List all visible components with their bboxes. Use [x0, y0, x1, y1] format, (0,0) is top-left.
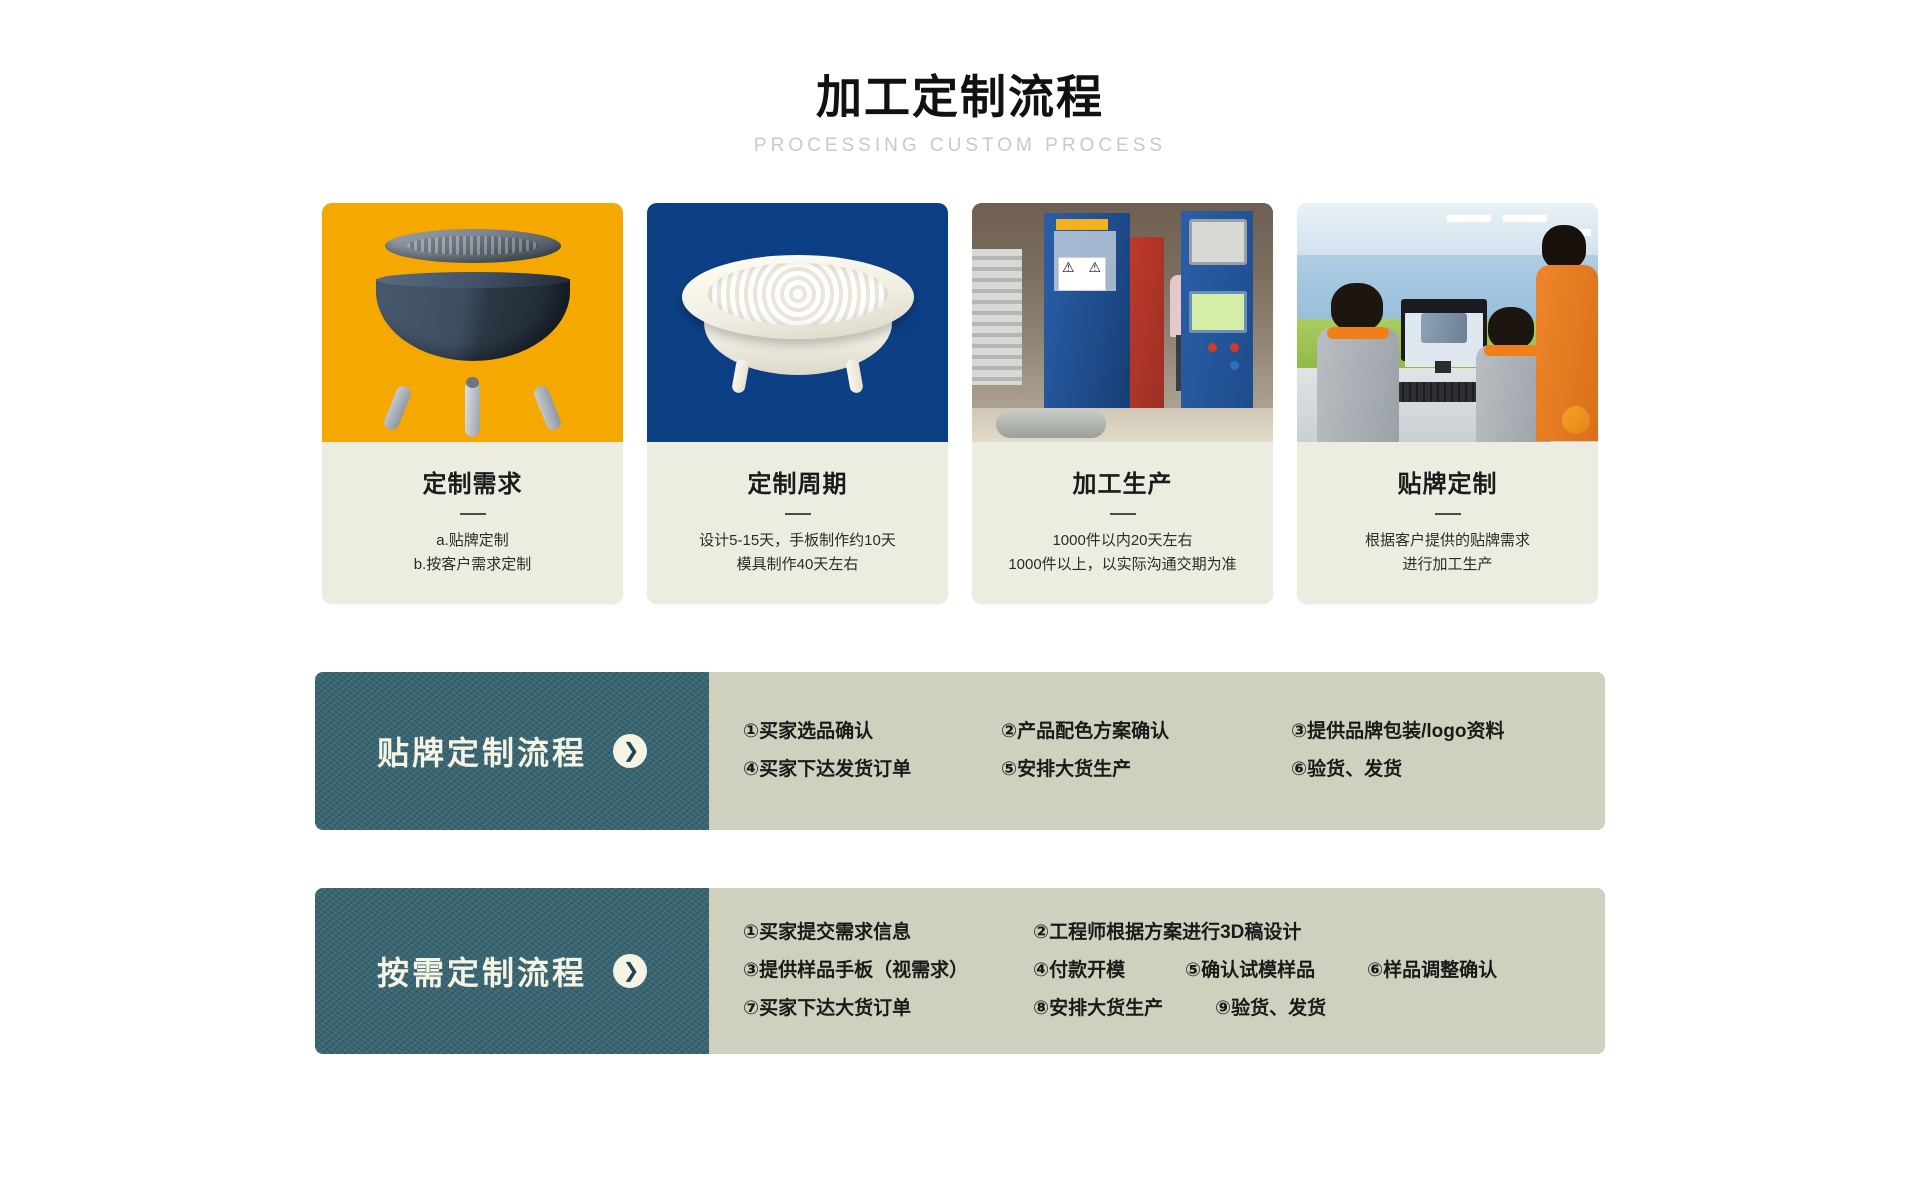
card-divider [785, 513, 811, 515]
page-title: 加工定制流程 [0, 72, 1920, 123]
grill-leg-shape [465, 381, 480, 437]
ceiling-light [1447, 215, 1491, 222]
card-desc-line: 模具制作40天左右 [661, 553, 934, 578]
process-step: ④付款开模 [1033, 952, 1185, 990]
process-card-body: 定制周期 设计5-15天，手板制作约10天 模具制作40天左右 [647, 442, 948, 605]
grill-leg-shape [532, 383, 563, 431]
prototype-shape [682, 255, 914, 371]
chevron-right-icon[interactable]: ❯ [613, 734, 647, 768]
process-step: ⑤安排大货生产 [1001, 751, 1291, 789]
warning-sign-icon [1058, 257, 1106, 291]
factory-machine [1044, 213, 1130, 413]
person-head [1331, 283, 1383, 331]
process-banners: 贴牌定制流程 ❯ ①买家选品确认 ②产品配色方案确认 ③提供品牌包装/logo资… [0, 672, 1920, 1054]
banner-steps-oem: ①买家选品确认 ②产品配色方案确认 ③提供品牌包装/logo资料 ④买家下达发货… [709, 672, 1605, 830]
grill-leg-shape [382, 383, 413, 431]
machine-button [1230, 343, 1239, 352]
card-desc-line: 1000件以上，以实际沟通交期为准 [986, 553, 1259, 578]
process-card-3[interactable]: 加工生产 1000件以内20天左右 1000件以上，以实际沟通交期为准 [972, 203, 1273, 605]
process-card-1[interactable]: 定制需求 a.贴牌定制 b.按客户需求定制 [322, 203, 623, 605]
banner-steps-custom: ①买家提交需求信息 ②工程师根据方案进行3D稿设计 ③提供样品手板（视需求） ④… [709, 888, 1605, 1054]
step-row: ③提供样品手板（视需求） ④付款开模 ⑤确认试模样品 ⑥样品调整确认 [743, 952, 1583, 990]
card-divider [1110, 513, 1136, 515]
cad-drawing [1421, 313, 1467, 343]
machine-label [1056, 219, 1108, 230]
process-step: ⑤确认试模样品 [1185, 952, 1367, 990]
process-card-body: 贴牌定制 根据客户提供的贴牌需求 进行加工生产 [1297, 442, 1598, 605]
process-step: ⑨验货、发货 [1215, 990, 1326, 1028]
step-row: ①买家选品确认 ②产品配色方案确认 ③提供品牌包装/logo资料 [743, 713, 1583, 751]
process-step: ⑥样品调整确认 [1367, 952, 1497, 990]
monitor-screen [1405, 313, 1483, 367]
card-description: a.贴牌定制 b.按客户需求定制 [336, 529, 609, 579]
process-step: ①买家提交需求信息 [743, 914, 1033, 952]
process-step: ②工程师根据方案进行3D稿设计 [1033, 914, 1301, 952]
page-root: 加工定制流程 PROCESSING CUSTOM PROCESS 定制需求 a.… [0, 0, 1920, 1200]
factory-part-stack [972, 249, 1022, 385]
process-cards: 定制需求 a.贴牌定制 b.按客户需求定制 定制周期 [0, 203, 1920, 605]
process-step: ③提供品牌包装/logo资料 [1291, 713, 1504, 751]
process-step: ①买家选品确认 [743, 713, 1001, 751]
banner-label-text: 贴牌定制流程 [377, 728, 587, 774]
person-head [1488, 307, 1534, 349]
monitor-stand [1435, 361, 1451, 373]
office-person-left [1317, 283, 1399, 442]
banner-label-custom: 按需定制流程 ❯ [315, 888, 709, 1054]
process-step: ②产品配色方案确认 [1001, 713, 1291, 751]
prototype-leg [731, 358, 750, 394]
person-shirt [1317, 327, 1399, 442]
machine-display [1189, 219, 1247, 265]
card-desc-line: b.按客户需求定制 [336, 553, 609, 578]
card-title: 贴牌定制 [1311, 464, 1584, 499]
computer-monitor [1401, 299, 1487, 361]
grill-bowl-shape [376, 279, 570, 361]
oem-process-banner: 贴牌定制流程 ❯ ①买家选品确认 ②产品配色方案确认 ③提供品牌包装/logo资… [315, 672, 1605, 830]
ceiling-light [1503, 215, 1547, 222]
prototype-leg [845, 358, 864, 394]
machine-touch-screen [1189, 291, 1247, 333]
step-row: ①买家提交需求信息 ②工程师根据方案进行3D稿设计 [743, 914, 1583, 952]
card-title: 定制周期 [661, 464, 934, 499]
process-card-body: 加工生产 1000件以内20天左右 1000件以上，以实际沟通交期为准 [972, 442, 1273, 605]
step-row: ⑦买家下达大货订单 ⑧安排大货生产 ⑨验货、发货 [743, 990, 1583, 1028]
machine-button [1208, 343, 1217, 352]
office-design-team-photo [1297, 203, 1598, 442]
step-row: ④买家下达发货订单 ⑤安排大货生产 ⑥验货、发货 [743, 751, 1583, 789]
card-description: 根据客户提供的贴牌需求 进行加工生产 [1311, 529, 1584, 579]
page-subtitle: PROCESSING CUSTOM PROCESS [0, 135, 1920, 157]
prototype-top-grooves [708, 263, 888, 325]
card-title: 加工生产 [986, 464, 1259, 499]
factory-production-photo [972, 203, 1273, 442]
watermark-logo-icon [1562, 406, 1590, 434]
process-step: ③提供样品手板（视需求） [743, 952, 1033, 990]
process-step: ⑧安排大货生产 [1033, 990, 1215, 1028]
card-desc-line: 设计5-15天，手板制作约10天 [661, 529, 934, 554]
machine-red-column [1130, 237, 1164, 415]
card-desc-line: 根据客户提供的贴牌需求 [1311, 529, 1584, 554]
page-header: 加工定制流程 PROCESSING CUSTOM PROCESS [0, 0, 1920, 157]
process-step: ⑦买家下达大货订单 [743, 990, 1033, 1028]
process-card-4[interactable]: 贴牌定制 根据客户提供的贴牌需求 进行加工生产 [1297, 203, 1598, 605]
card-desc-line: a.贴牌定制 [336, 529, 609, 554]
process-step: ⑥验货、发货 [1291, 751, 1402, 789]
card-description: 1000件以内20天左右 1000件以上，以实际沟通交期为准 [986, 529, 1259, 579]
card-description: 设计5-15天，手板制作约10天 模具制作40天左右 [661, 529, 934, 579]
molded-part [996, 410, 1106, 438]
grill-lid-shape [385, 229, 561, 263]
banner-label-text: 按需定制流程 [377, 948, 587, 994]
card-desc-line: 进行加工生产 [1311, 553, 1584, 578]
exploded-grill-render [322, 203, 623, 442]
card-desc-line: 1000件以内20天左右 [986, 529, 1259, 554]
custom-process-banner: 按需定制流程 ❯ ①买家提交需求信息 ②工程师根据方案进行3D稿设计 ③提供样品… [315, 888, 1605, 1054]
person-collar [1484, 345, 1540, 356]
process-step: ④买家下达发货订单 [743, 751, 1001, 789]
machine-button [1230, 361, 1239, 370]
card-divider [1435, 513, 1461, 515]
process-card-body: 定制需求 a.贴牌定制 b.按客户需求定制 [322, 442, 623, 605]
white-prototype-render [647, 203, 948, 442]
card-divider [460, 513, 486, 515]
person-collar [1327, 327, 1389, 339]
process-card-2[interactable]: 定制周期 设计5-15天，手板制作约10天 模具制作40天左右 [647, 203, 948, 605]
chevron-right-icon[interactable]: ❯ [613, 954, 647, 988]
card-title: 定制需求 [336, 464, 609, 499]
banner-label-oem: 贴牌定制流程 ❯ [315, 672, 709, 830]
person-head [1542, 225, 1586, 269]
